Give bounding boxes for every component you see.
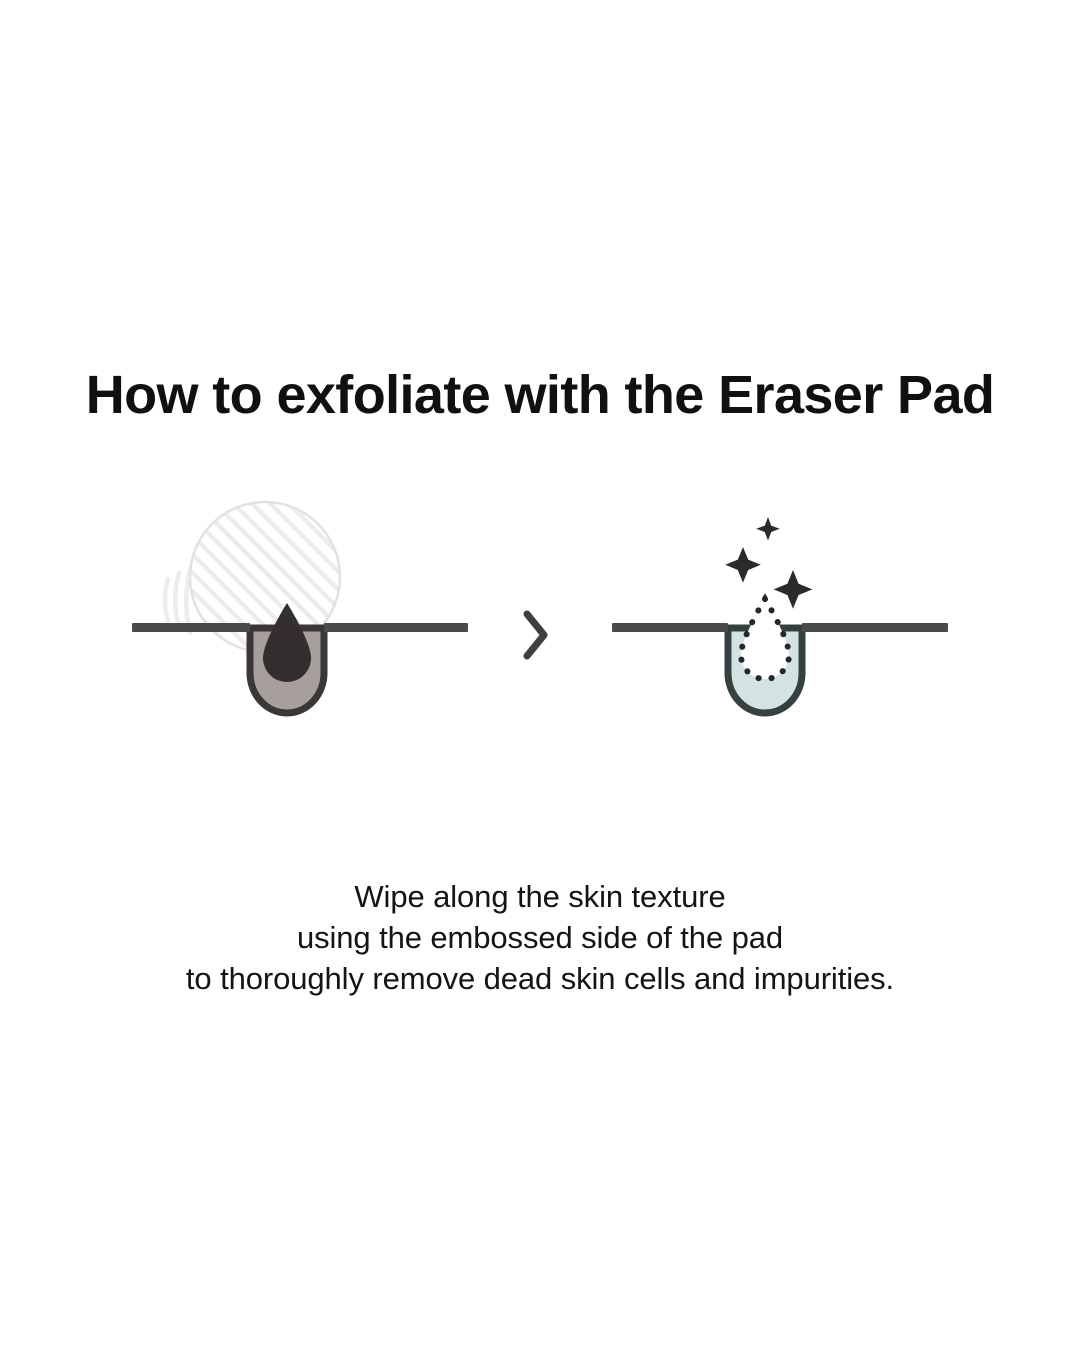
before-panel	[130, 495, 470, 735]
caption-block: Wipe along the skin texture using the em…	[0, 876, 1080, 999]
page-title: How to exfoliate with the Eraser Pad	[0, 366, 1080, 425]
sparkle-icon-large	[774, 570, 813, 609]
after-panel	[610, 495, 950, 735]
caption-line-3: to thoroughly remove dead skin cells and…	[0, 958, 1080, 999]
caption-line-1: Wipe along the skin texture	[0, 876, 1080, 917]
exfoliation-illustration	[0, 495, 1080, 735]
sparkle-icons	[725, 517, 812, 609]
chevron-right-glyph	[518, 608, 552, 662]
sparkle-icon-small	[756, 517, 780, 541]
instruction-card: How to exfoliate with the Eraser Pad	[0, 0, 1080, 1350]
chevron-right-icon	[500, 600, 570, 670]
caption-line-2: using the embossed side of the pad	[0, 917, 1080, 958]
before-diagram-svg	[130, 495, 470, 735]
after-diagram-svg	[610, 495, 950, 735]
sparkle-icon-medium	[725, 547, 761, 583]
cleared-drop-icon	[741, 599, 789, 679]
